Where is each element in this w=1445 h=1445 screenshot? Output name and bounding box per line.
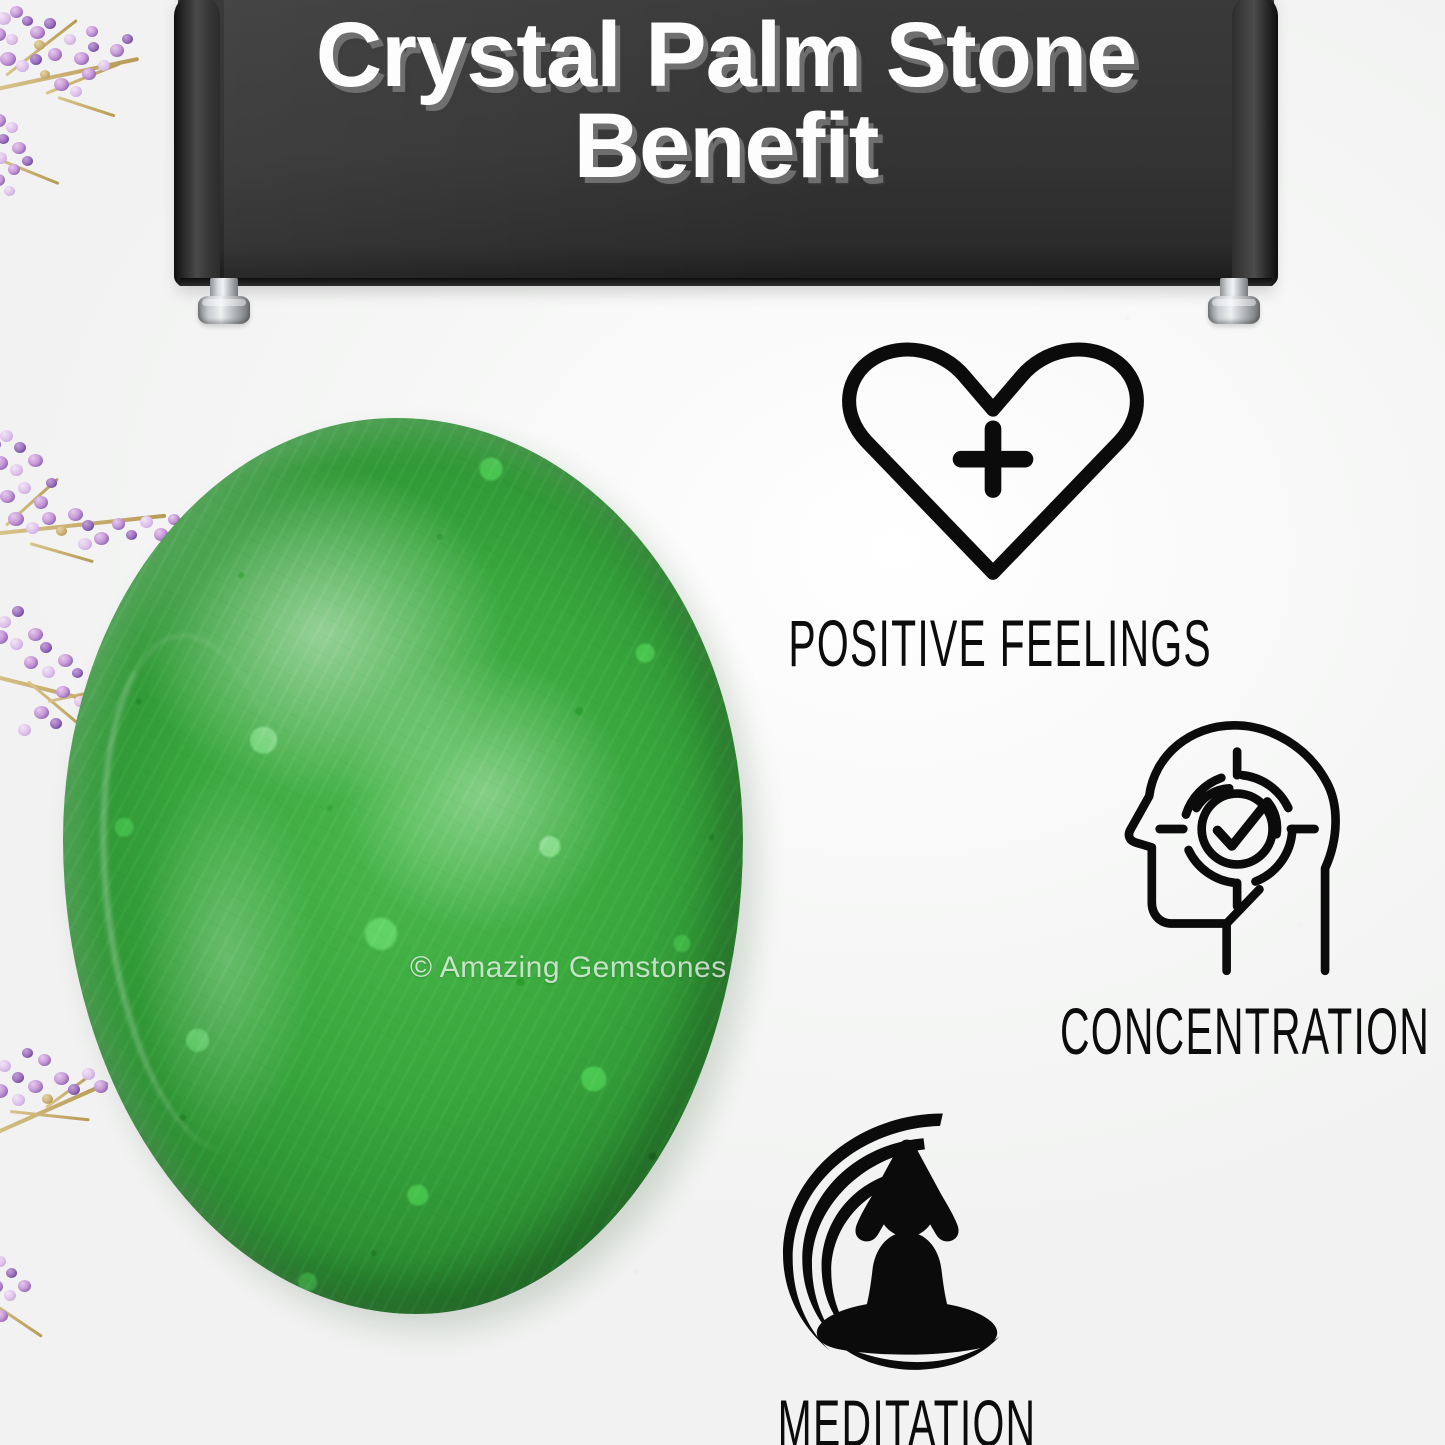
stone-highlight bbox=[77, 624, 334, 1162]
meditation-lotus-icon bbox=[577, 1108, 1237, 1378]
flower-sprig-left-upper bbox=[0, 108, 110, 238]
title-banner: Crystal Palm Stone Benefit bbox=[178, 0, 1274, 324]
heart-plus-icon bbox=[663, 336, 1323, 592]
flower-sprig-top-left bbox=[0, 4, 176, 184]
benefit-positive-feelings: POSITIVE FEELINGS bbox=[663, 336, 1323, 676]
product-infographic: © Amazing Gemstones Crystal Palm Stone B… bbox=[0, 0, 1445, 1445]
copyright-watermark: © Amazing Gemstones bbox=[410, 951, 727, 985]
banner-post-right bbox=[1232, 0, 1278, 286]
foot-disc bbox=[1208, 296, 1260, 324]
benefit-label: MEDITATION bbox=[702, 1390, 1111, 1445]
benefit-label: POSITIVE FEELINGS bbox=[788, 610, 1197, 676]
banner-post-left bbox=[174, 0, 220, 286]
benefit-label: CONCENTRATION bbox=[1040, 998, 1445, 1064]
flower-sprig-bottom-far-left bbox=[0, 1240, 104, 1390]
benefit-meditation: MEDITATION bbox=[577, 1108, 1237, 1445]
foot-disc bbox=[198, 296, 250, 324]
benefit-concentration: CONCENTRATION bbox=[915, 718, 1445, 1064]
banner-bottom-lip bbox=[180, 278, 1272, 286]
head-target-check-icon bbox=[915, 718, 1445, 982]
page-title: Crystal Palm Stone Benefit bbox=[224, 10, 1228, 192]
banner-foot-left bbox=[198, 278, 250, 324]
banner-foot-right bbox=[1208, 278, 1260, 324]
